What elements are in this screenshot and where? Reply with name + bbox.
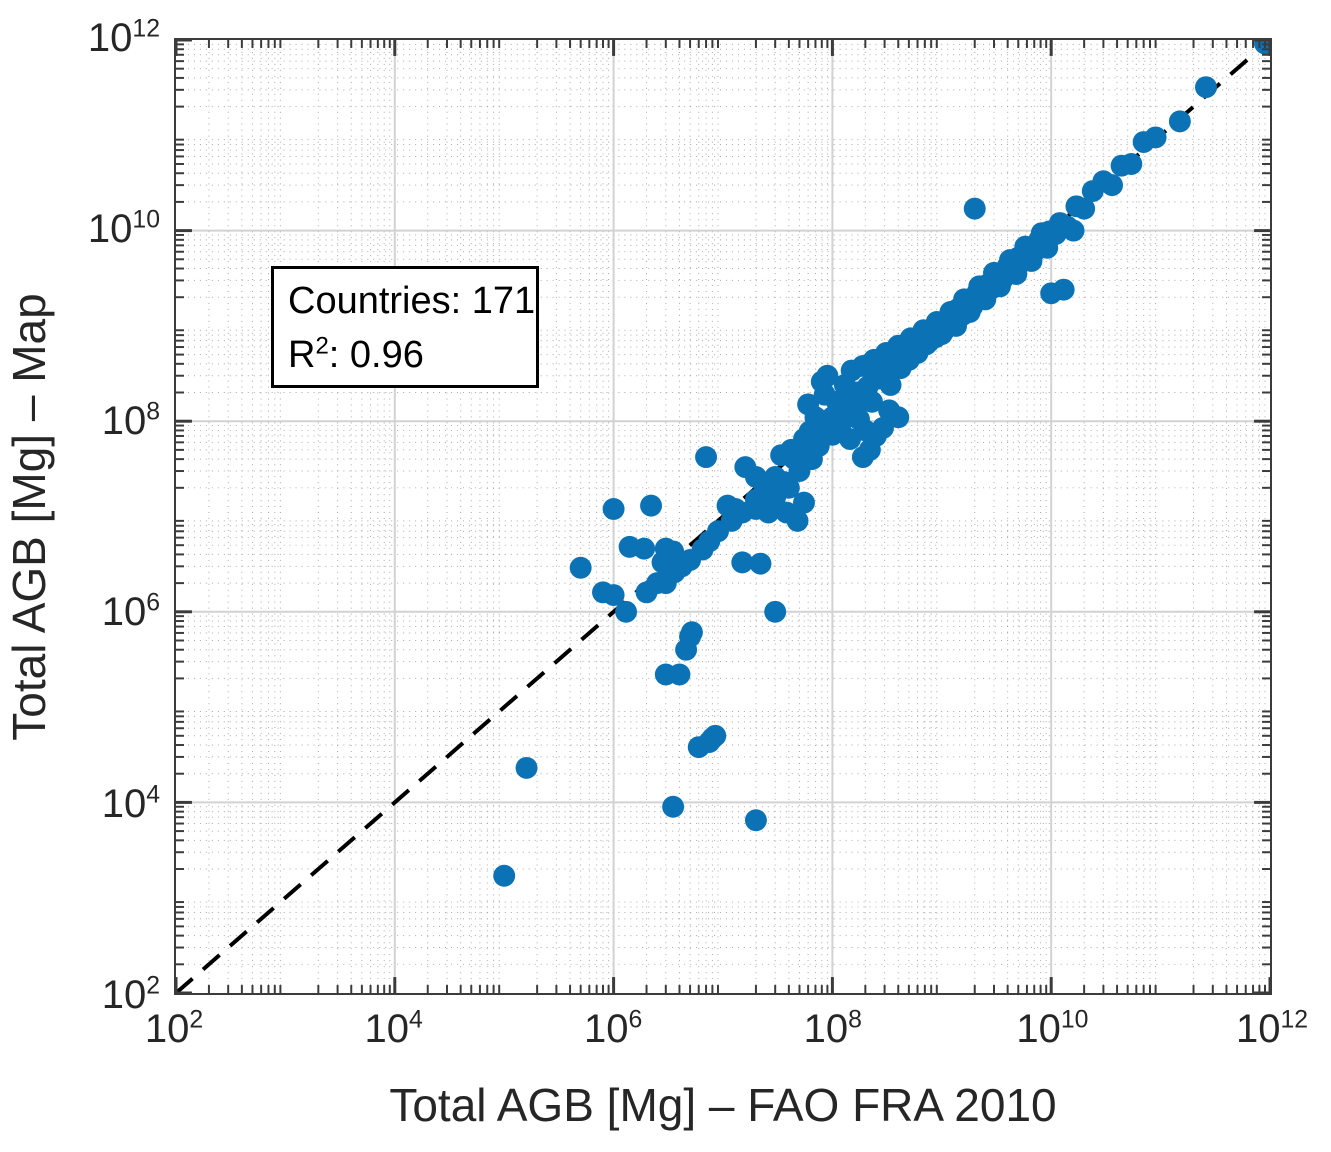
- countries-value: 171: [472, 280, 535, 322]
- x-tick-label: 1012: [1236, 1009, 1308, 1049]
- r-squared-label: R: [288, 334, 315, 376]
- x-tick-label: 106: [584, 1009, 642, 1049]
- statistics-annotation-box: Countries: 171 R2: 0.96: [271, 266, 539, 388]
- y-tick-label: 1012: [88, 18, 160, 58]
- y-tick-label: 1010: [88, 209, 160, 249]
- r-squared-value: 0.96: [350, 334, 424, 376]
- y-tick-label: 106: [102, 592, 160, 632]
- x-tick-label: 104: [364, 1009, 422, 1049]
- x-tick-label: 108: [804, 1009, 862, 1049]
- y-axis-title: Total AGB [Mg] – Map: [2, 293, 56, 740]
- y-axis-title-container: Total AGB [Mg] – Map: [0, 38, 58, 995]
- x-tick-label: 102: [145, 1009, 203, 1049]
- y-tick-label: 108: [102, 401, 160, 441]
- r-squared-stat-line: R2: 0.96: [288, 329, 524, 383]
- plot-axes: [174, 38, 1272, 995]
- tick-marks-layer: [176, 40, 1270, 993]
- countries-stat-line: Countries: 171: [288, 275, 524, 329]
- x-tick-label: 1010: [1016, 1009, 1088, 1049]
- r-squared-separator: :: [329, 334, 340, 376]
- figure-canvas: 10210410610810101012 1021041061081010101…: [0, 0, 1331, 1152]
- r-squared-exponent: 2: [315, 332, 328, 359]
- y-tick-label: 104: [102, 784, 160, 824]
- countries-label: Countries:: [288, 280, 461, 322]
- x-axis-title: Total AGB [Mg] – FAO FRA 2010: [174, 1078, 1272, 1132]
